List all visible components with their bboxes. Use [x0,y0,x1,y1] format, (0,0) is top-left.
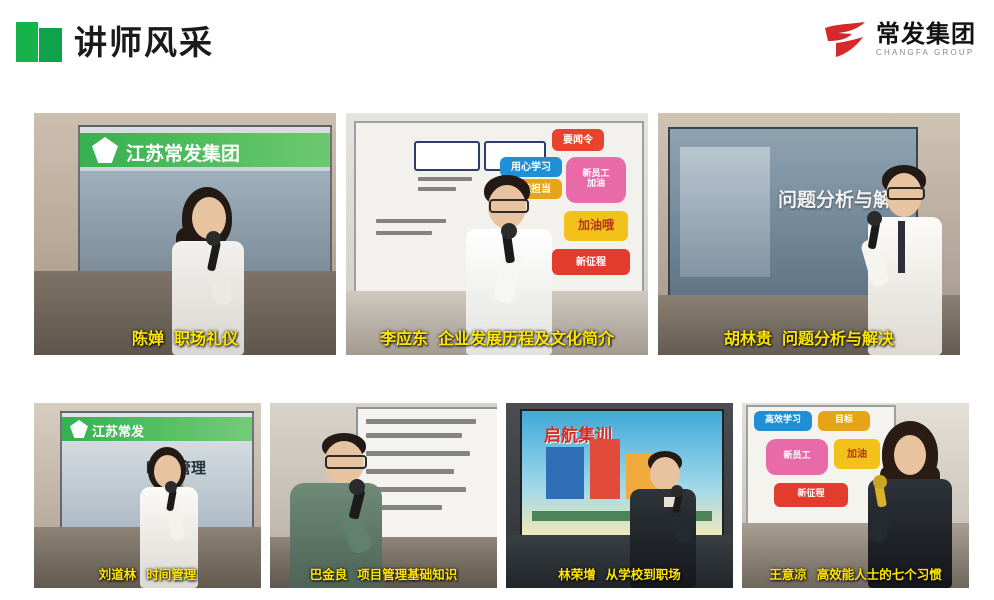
microphone-head [873,475,887,489]
speaker-name: 王意凉 [769,567,807,582]
sticker-yellow: 加油哦 [564,211,628,241]
microphone-head [867,211,882,226]
gallery-card-ba-jinliang[interactable]: 巴金良项目管理基础知识 [270,403,497,588]
speaker-topic: 企业发展历程及文化简介 [438,329,614,348]
glasses [489,199,529,213]
speaker-name: 林荣增 [558,567,596,582]
gallery-row-bottom: 江苏常发 时间管理 讲师 刘道林时间管理 [34,403,969,588]
sticker-pink: 新员工加油 [566,157,626,203]
slide-green-banner [62,417,252,441]
photo-scene: 江苏常发 时间管理 讲师 [34,403,261,588]
speaker-name: 巴金良 [310,567,348,582]
brand-name-cn: 常发集团 [876,22,976,46]
glasses [887,187,925,200]
board-text-line [376,219,446,223]
glasses [325,455,367,469]
gallery-card-lin-rongzeng[interactable]: 启航集训 林荣增从学校到职场 [506,403,733,588]
speaker-topic: 时间管理 [146,567,196,582]
microphone-head [349,479,365,495]
microphone-head [206,231,221,246]
gallery-card-hu-lingui[interactable]: 问题分析与解决 胡林贵问题分析与解决 [658,113,960,355]
photo-scene: 启航集训 [506,403,733,588]
slide-building-image [680,147,770,277]
gallery-card-chen-chan[interactable]: 江苏常发集团 陈婵职场礼仪 [34,113,336,355]
speaker-topic: 职场礼仪 [174,329,238,348]
speaker-name: 刘道林 [99,567,137,582]
brand-text: 常发集团 CHANGFA GROUP [876,22,976,57]
sticker-blue: 高效学习 [754,411,812,431]
gallery-row-top: 江苏常发集团 陈婵职场礼仪 [34,113,960,355]
logo-square-right [39,28,62,62]
card-caption: 林荣增从学校到职场 [506,564,733,583]
speaker-topic: 高效能人士的七个习惯 [817,567,942,582]
microphone-head [165,481,177,493]
sticker-red: 新征程 [774,483,848,507]
slide-building-left [546,447,584,499]
diagram-box-left [414,141,480,171]
green-squares-logo [16,22,62,62]
brand-name-en: CHANGFA GROUP [876,49,976,57]
speaker-topic: 项目管理基础知识 [357,567,457,582]
photo-scene: 高效学习 目标 新员工 加油 新征程 [742,403,969,588]
brand-lockup: 常发集团 CHANGFA GROUP [822,16,976,62]
photo-scene [270,403,497,588]
slide-headline: 江苏常发集团 [126,139,240,166]
sticker-pink: 新员工 [766,439,828,475]
necktie [898,221,905,273]
speaker-name: 胡林贵 [724,329,772,348]
speaker-figure [854,421,964,588]
speaker-name: 李应东 [380,329,428,348]
slide-text-line [366,419,476,424]
page-header: 讲师风采 常发集团 CHANGFA GROUP [0,0,994,86]
speaker-topic: 问题分析与解决 [782,329,894,348]
card-caption: 刘道林时间管理 [34,564,261,583]
card-caption: 胡林贵问题分析与解决 [658,325,960,349]
board-text-line [376,231,432,235]
card-caption: 王意凉高效能人士的七个习惯 [742,564,969,583]
sticker-red-top: 要闻令 [552,129,604,151]
slide-brand-text: 江苏常发 [92,421,144,440]
photo-scene: 要闻令 用心学习 目标担当 新员工加油 加油哦 新征程 [346,113,648,355]
gallery-card-liu-daolin[interactable]: 江苏常发 时间管理 讲师 刘道林时间管理 [34,403,261,588]
microphone-head [501,223,517,239]
slide-building-mid [590,439,620,499]
page-title: 讲师风采 [74,16,214,64]
speaker-topic: 从学校到职场 [606,567,681,582]
gallery-card-wang-yiliang[interactable]: 高效学习 目标 新员工 加油 新征程 王意凉高效能人士的七个习惯 [742,403,969,588]
changfa-bird-logo [822,19,868,59]
diagram-line [418,187,456,191]
speaker-name: 陈婵 [132,329,164,348]
photo-scene: 问题分析与解决 [658,113,960,355]
card-caption: 李应东企业发展历程及文化简介 [346,325,648,349]
microphone-head [671,485,683,497]
logo-square-left [16,22,38,62]
sticker-blue: 用心学习 [500,157,562,177]
gallery-card-li-yingdong[interactable]: 要闻令 用心学习 目标担当 新员工加油 加油哦 新征程 李应东企业发展 [346,113,648,355]
photo-scene: 江苏常发集团 [34,113,336,355]
card-caption: 巴金良项目管理基础知识 [270,564,497,583]
card-caption: 陈婵职场礼仪 [34,325,336,349]
